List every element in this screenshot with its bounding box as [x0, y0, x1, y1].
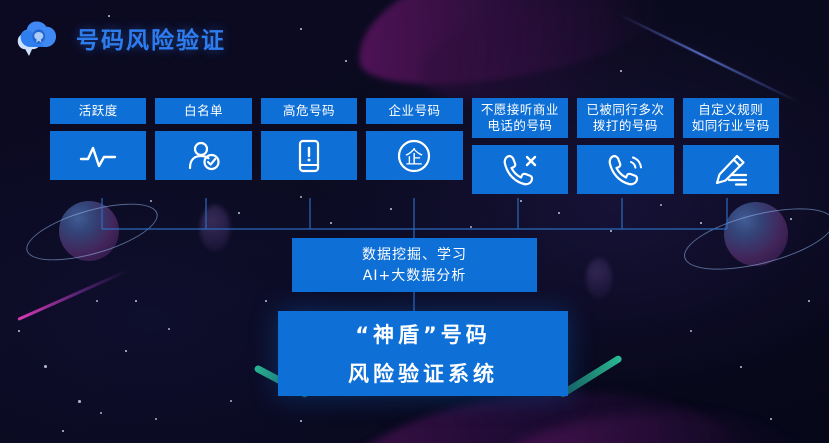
- main-system-line: “神盾”号码: [355, 319, 491, 349]
- risk-category-reject-commercial-calls[interactable]: 不愿接听商业 电话的号码: [472, 98, 568, 198]
- risk-category-frequently-dialed[interactable]: 已被同行多次 拨打的号码: [577, 98, 673, 198]
- category-icon-box[interactable]: [472, 145, 568, 194]
- enterprise-circle-icon: 企: [396, 138, 432, 174]
- category-label-line: 电话的号码: [487, 118, 552, 134]
- category-label[interactable]: 企业号码: [366, 98, 462, 124]
- category-label[interactable]: 已被同行多次 拨打的号码: [577, 98, 673, 138]
- category-label-line: 自定义规则: [698, 102, 763, 118]
- category-icon-box[interactable]: [50, 131, 146, 180]
- phone-ringing-icon: [606, 153, 644, 187]
- svg-text:企: 企: [405, 147, 423, 168]
- category-label-line: 不愿接听商业: [481, 102, 559, 118]
- person-check-icon: [186, 140, 222, 172]
- slide-canvas: 号码风险验证 活跃度 白名单: [0, 0, 829, 443]
- risk-category-custom-rules[interactable]: 自定义规则 如同行业号码: [683, 98, 779, 198]
- category-label-line: 白名单: [184, 103, 223, 119]
- pencil-rules-icon: [712, 153, 750, 187]
- risk-category-enterprise-number[interactable]: 企业号码 企: [366, 98, 462, 198]
- category-icon-box[interactable]: 企: [366, 131, 462, 180]
- main-system-line: 风险验证系统: [348, 358, 498, 388]
- phone-alert-icon: [296, 139, 322, 173]
- category-label-line: 如同行业号码: [692, 118, 770, 134]
- data-analysis-box[interactable]: 数据挖掘、学习 AI+大数据分析: [292, 238, 537, 292]
- data-analysis-line: 数据挖掘、学习: [362, 247, 467, 263]
- category-icon-box[interactable]: [261, 131, 357, 180]
- data-analysis-line: AI+大数据分析: [363, 268, 466, 284]
- phone-reject-icon: [501, 153, 539, 187]
- risk-category-whitelist[interactable]: 白名单: [155, 98, 251, 198]
- category-label[interactable]: 高危号码: [261, 98, 357, 124]
- main-system-box[interactable]: “神盾”号码 风险验证系统: [278, 311, 568, 396]
- category-label-line: 高危号码: [283, 103, 335, 119]
- activity-pulse-icon: [79, 141, 117, 171]
- risk-category-high-risk-number[interactable]: 高危号码: [261, 98, 357, 198]
- category-icon-box[interactable]: [155, 131, 251, 180]
- category-icon-box[interactable]: [683, 145, 779, 194]
- category-label[interactable]: 不愿接听商业 电话的号码: [472, 98, 568, 138]
- category-label-line: 已被同行多次: [586, 102, 664, 118]
- category-label-line: 拨打的号码: [593, 118, 658, 134]
- cloud-logo-icon: [14, 14, 62, 62]
- category-icon-box[interactable]: [577, 145, 673, 194]
- category-label-line: 活跃度: [79, 103, 118, 119]
- category-label[interactable]: 白名单: [155, 98, 251, 124]
- page-title: 号码风险验证: [76, 21, 226, 55]
- page-header: 号码风险验证: [0, 0, 226, 62]
- category-label-line: 企业号码: [388, 103, 440, 119]
- category-label[interactable]: 活跃度: [50, 98, 146, 124]
- risk-category-activity[interactable]: 活跃度: [50, 98, 146, 198]
- category-label[interactable]: 自定义规则 如同行业号码: [683, 98, 779, 138]
- risk-category-row: 活跃度 白名单: [50, 98, 779, 198]
